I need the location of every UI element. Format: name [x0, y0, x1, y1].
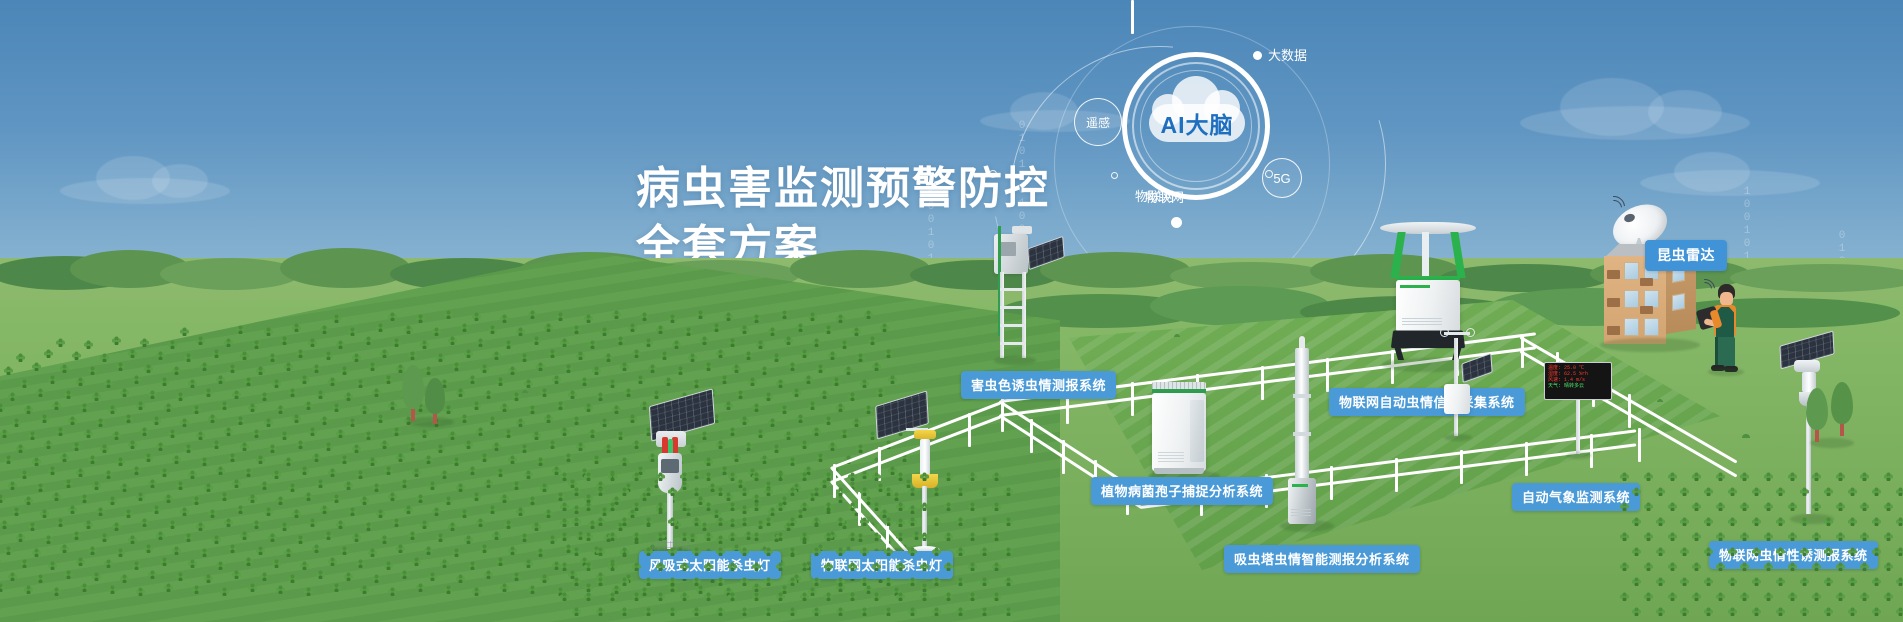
device-plant-pathogen-spore-capture-analysis-system[interactable]: [1148, 382, 1238, 482]
cabinet-side-panel: [1190, 400, 1204, 462]
anemometer-cup: [1440, 328, 1449, 337]
cabinet-label: [1402, 316, 1442, 325]
node-big-data-label[interactable]: 大数据: [1268, 45, 1307, 64]
ground-shadow: [1566, 452, 1592, 459]
led-board-pole: [1576, 400, 1580, 454]
node-5g-label: 5G: [1273, 171, 1290, 186]
anemometer-cup: [1466, 328, 1475, 337]
funnel-rib: [1450, 232, 1465, 278]
tower-leg: [1000, 272, 1004, 358]
solar-panel: [1027, 236, 1064, 270]
person-pants: [1715, 337, 1735, 367]
ai-core-label: AI大脑: [1161, 106, 1234, 140]
poster-scene: 01001010110101001 0101101001011010 01001…: [0, 0, 1903, 622]
ground-shadow: [1600, 338, 1700, 352]
ground-shadow: [1708, 368, 1744, 376]
led-display-assembly[interactable]: 温度: 25.0 ℃ 湿度: 62.5 %rh 风速: 1.4 m/s 天气: …: [1544, 362, 1614, 458]
device-wind-suction-solar-insect-lamp[interactable]: [630, 395, 740, 565]
lamp-top-cap: [914, 430, 936, 439]
node-remote-sensing[interactable]: 遥感: [1074, 98, 1122, 146]
mast-joint: [1293, 394, 1311, 398]
weather-datalogger: [1444, 384, 1470, 414]
endpoint-dot: [1111, 172, 1118, 179]
ground-shadow: [1444, 434, 1472, 441]
cabinet-brand-stripe: [1400, 285, 1430, 288]
node-5g[interactable]: 5G: [1262, 158, 1302, 198]
ground-shadow: [1790, 514, 1834, 524]
label-suction-tower-intelligent-forecast-analysis-system[interactable]: 吸虫塔虫情智能测报分析系统: [1224, 545, 1420, 573]
solar-panel: [1461, 353, 1492, 383]
building-window-side: [1672, 293, 1685, 311]
endpoint-dot: [1265, 170, 1273, 178]
tower-rung: [1000, 306, 1026, 309]
building-balcony: [1607, 298, 1620, 307]
lamp-tube: [1422, 232, 1429, 278]
cabinet-base: [1154, 468, 1204, 474]
node-big-data-dot: [1253, 51, 1262, 60]
fan-grill: [661, 459, 679, 473]
weather-mast: [1432, 328, 1496, 448]
funnel-rib: [1390, 232, 1405, 278]
cabinet-vent-top: [1152, 382, 1206, 389]
label-insect-radar[interactable]: 昆虫雷达: [1645, 240, 1727, 271]
mast-joint: [1293, 432, 1311, 436]
tower-rung: [1000, 324, 1026, 327]
node-iot-caption: 物联网: [1135, 186, 1174, 205]
cabinet-label: [1158, 452, 1184, 462]
label-iot-pheromone-trap-forecast-system[interactable]: 物联网虫情性诱测报系统: [1709, 541, 1878, 569]
building-window: [1624, 290, 1639, 308]
trap-window: [1000, 242, 1016, 256]
device-pest-color-trap-forecast-system[interactable]: [988, 226, 1108, 371]
device-suction-tower-intelligent-forecast-analysis-system[interactable]: [1278, 336, 1338, 536]
trap-controller: [1794, 360, 1820, 372]
device-iot-solar-insect-lamp[interactable]: [858, 398, 968, 563]
trap-top: [1012, 226, 1032, 234]
wifi-arc-icon: [1691, 275, 1719, 303]
device-auto-weather-monitoring-system[interactable]: 温度: 25.0 ℃ 湿度: 62.5 %rh 风速: 1.4 m/s 天气: …: [1432, 328, 1622, 488]
cabinet-brand-stripe: [1292, 484, 1308, 487]
building-balcony: [1607, 326, 1620, 335]
tree: [422, 378, 452, 432]
node-remote-sensing-label: 遥感: [1086, 114, 1110, 131]
node-iot-dot: [1171, 217, 1182, 228]
label-auto-weather-monitoring-system[interactable]: 自动气象监测系统: [1512, 483, 1640, 511]
tower-rung: [1000, 342, 1026, 345]
label-iot-solar-insect-lamp[interactable]: 物联网太阳能杀虫灯: [811, 551, 953, 579]
label-wind-suction-solar-insect-lamp[interactable]: 风吸式太阳能杀虫灯: [639, 551, 781, 579]
lamp-tube: [920, 439, 930, 475]
ground-shadow: [994, 356, 1036, 365]
ai-core-badge[interactable]: AI大脑: [1149, 104, 1245, 142]
tower-rung: [1000, 288, 1026, 291]
led-line-4: 天气: 晴转多云: [1548, 383, 1608, 389]
tree: [1828, 382, 1860, 444]
suction-tower-mast: [1295, 348, 1309, 480]
led-display-board[interactable]: 温度: 25.0 ℃ 湿度: 62.5 %rh 风速: 1.4 m/s 天气: …: [1544, 362, 1612, 400]
building-window: [1624, 318, 1639, 336]
label-plant-pathogen-spore-capture-analysis-system[interactable]: 植物病菌孢子捕捉分析系统: [1091, 477, 1273, 505]
base-leg: [1394, 346, 1404, 360]
tower-leg: [1022, 272, 1026, 358]
field-technician: [1690, 280, 1760, 390]
person-head: [1720, 292, 1733, 306]
label-pest-color-trap-forecast-system[interactable]: 害虫色诱虫情测报系统: [961, 371, 1116, 399]
lamp-pole: [922, 486, 927, 550]
building-balcony: [1640, 278, 1653, 286]
headline-line-1: 病虫害监测预警防控: [636, 160, 1050, 218]
building-window: [1644, 318, 1659, 336]
building-balcony: [1607, 270, 1620, 279]
building-balcony: [1640, 306, 1653, 314]
cabinet-label: [1291, 508, 1311, 516]
person-pants-seam: [1715, 337, 1718, 367]
building-window: [1624, 262, 1639, 280]
